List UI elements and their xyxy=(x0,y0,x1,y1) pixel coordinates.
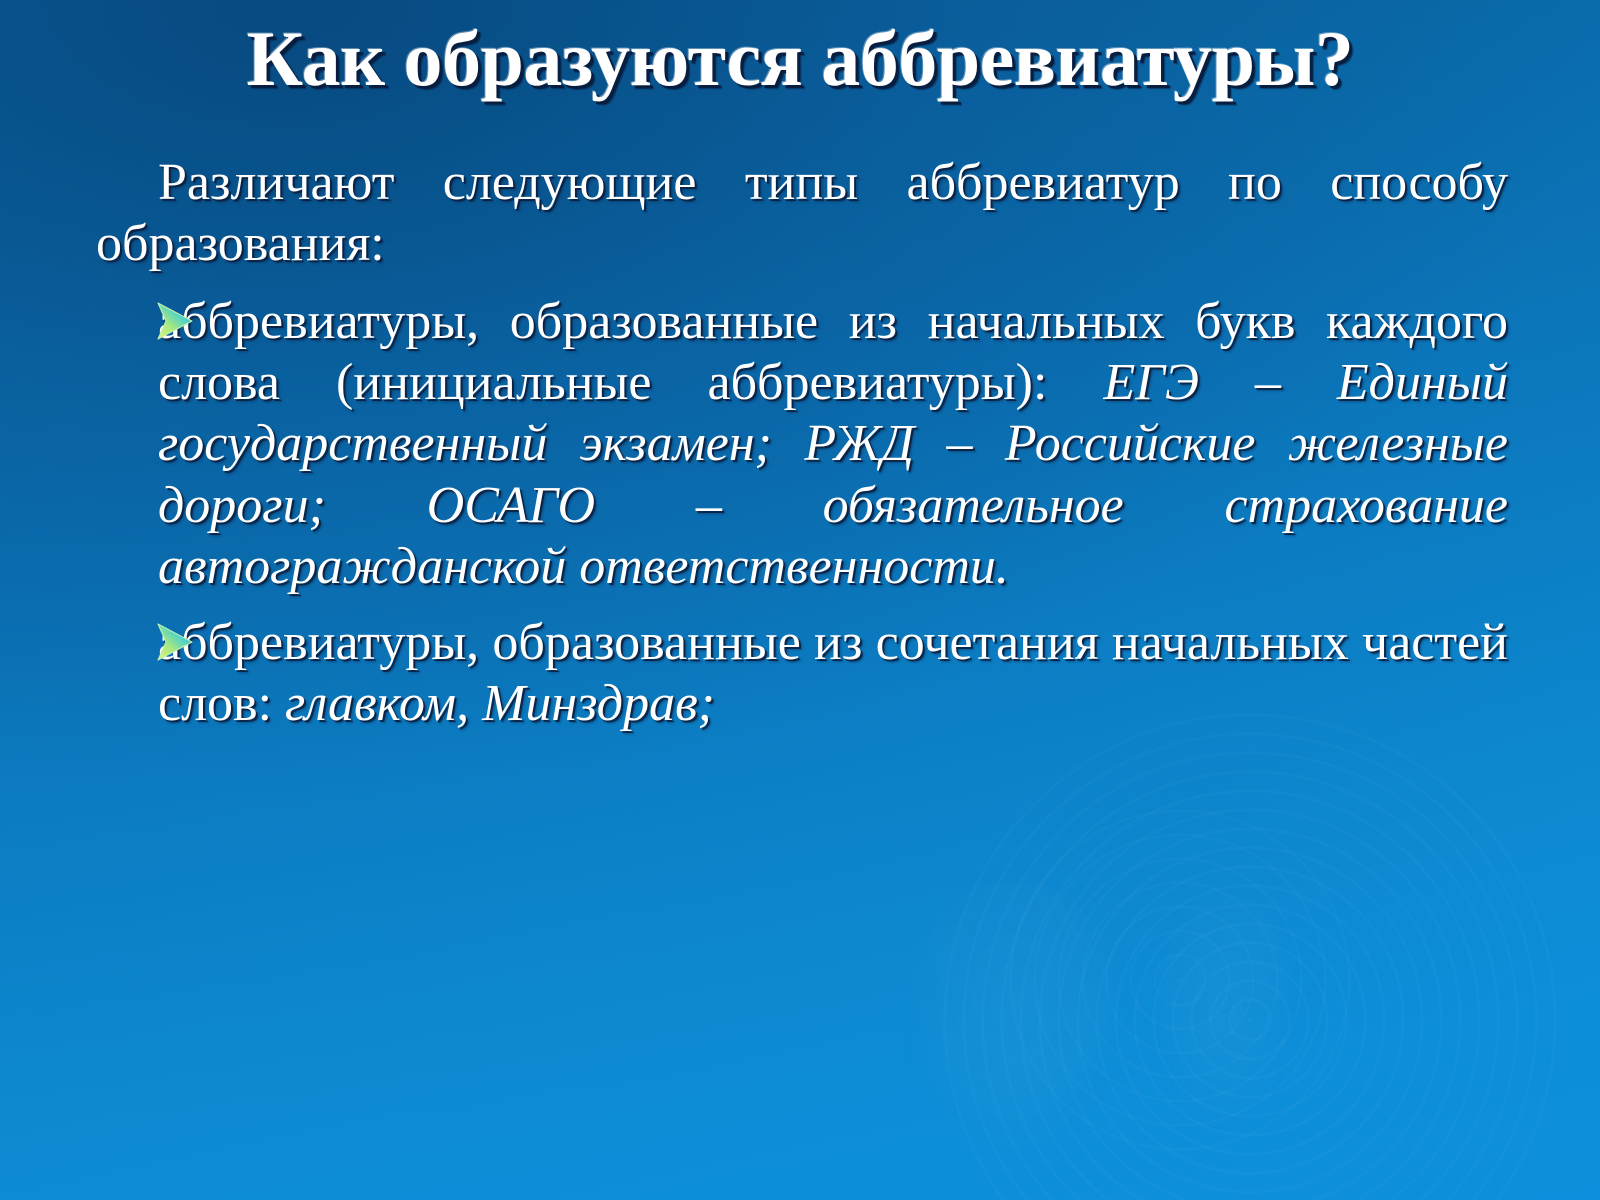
bullet-2-examples-text: главком, Минздрав; xyxy=(285,675,715,732)
slide-title-container: Как образуются аббревиатуры? xyxy=(0,18,1600,100)
arrow-bullet-icon xyxy=(152,299,196,343)
background-watermark-rings-secondary xyxy=(990,790,1370,1170)
slide-body: Различают следующие типы аббревиатур по … xyxy=(96,152,1508,734)
arrow-bullet-icon xyxy=(152,620,196,664)
background-watermark-rings xyxy=(940,710,1560,1200)
slide-title: Как образуются аббревиатуры? xyxy=(247,18,1354,100)
bullet-item-2: аббревиатуры, образованные из сочетания … xyxy=(96,612,1508,735)
intro-paragraph: Различают следующие типы аббревиатур по … xyxy=(96,152,1508,275)
bullet-item-1: аббревиатуры, образованные из начальных … xyxy=(96,291,1508,598)
background-watermark-blob-secondary xyxy=(1150,890,1300,1140)
background-watermark-blob xyxy=(900,880,1130,1180)
intro-text: Различают следующие типы аббревиатур по … xyxy=(96,154,1508,272)
presentation-slide: Как образуются аббревиатуры? Различают с… xyxy=(0,0,1600,1200)
